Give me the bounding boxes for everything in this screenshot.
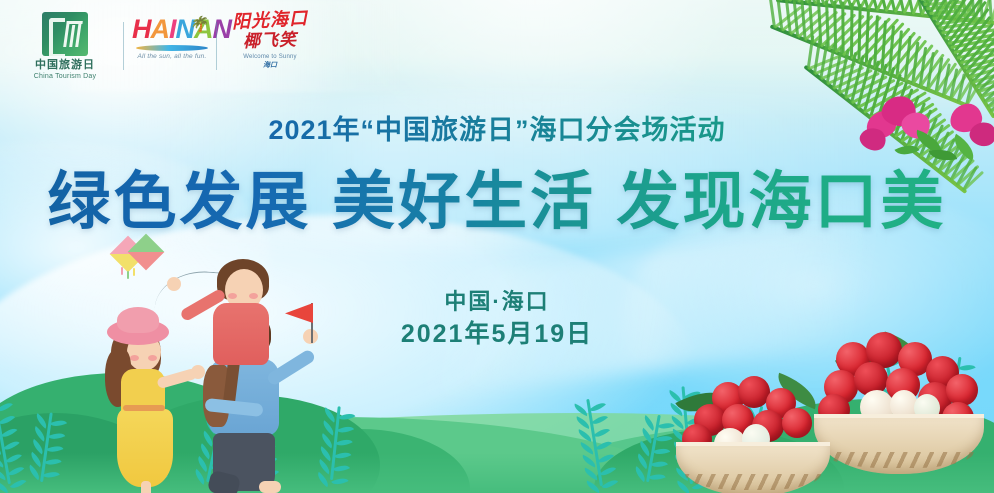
ctd-name-en: China Tourism Day [22,72,108,82]
event-subtitle: 2021年“中国旅游日”海口分会场活动 [0,108,994,147]
basket-right [814,414,984,474]
ctd-name-cn: 中国旅游日 [22,59,108,72]
event-headline: 绿色发展 美好生活 发现海口美 [0,165,994,239]
haikou-sub-cn: 海口 [226,60,314,70]
hainan-letter-a1: A [151,14,170,44]
logo-china-tourism-day: 中国旅游日 China Tourism Day [22,12,108,82]
logo-haikou: 阳光海口 椰飞笑 Welcome to Sunny 海口 [226,10,314,70]
palm-tree-icon: 🌴 [189,10,207,40]
seal-emblem-icon [42,12,88,56]
girl-skirt [117,409,173,487]
logo-divider-1 [123,22,124,70]
lychee-baskets [674,328,994,493]
logo-bar: 中国旅游日 China Tourism Day HAINAN 🌴 All the… [0,0,994,92]
kite-icon [109,237,173,287]
hainan-letter-h: H [132,14,151,44]
haikou-calligraphy-line2: 椰飞笑 [226,29,315,52]
hainan-wave-underline [136,45,208,51]
logo-divider-2 [216,22,217,70]
man-foot [259,481,281,493]
logo-hainan: HAINAN 🌴 All the sun, all the fun. [132,14,212,60]
boy-hand [167,277,181,291]
girl-hat-crown [117,307,159,333]
girl-hand [191,365,205,379]
hainan-tagline: All the sun, all the fun. [132,53,212,60]
hainan-wordmark: HAINAN 🌴 [132,14,212,44]
girl-leg [141,481,151,493]
event-poster: 中国旅游日 China Tourism Day HAINAN 🌴 All the… [0,0,994,493]
boy-shirt [213,303,269,365]
family-illustration [105,241,355,491]
basket-left [676,442,830,493]
girl-belt [123,405,165,411]
